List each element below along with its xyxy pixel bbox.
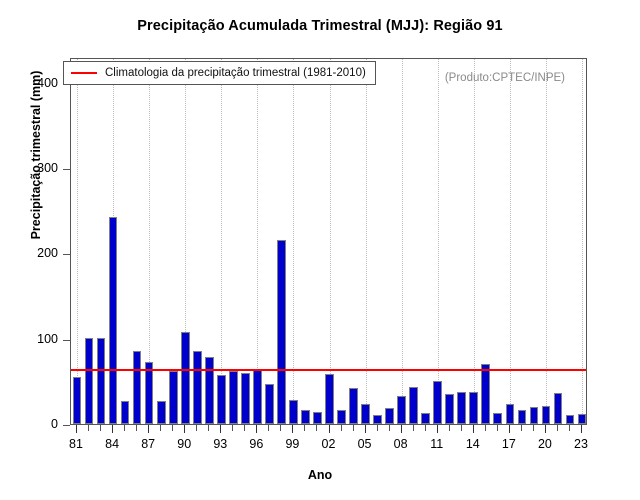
x-tick-mark	[569, 425, 570, 431]
x-tick-mark	[196, 425, 197, 431]
x-tick-mark	[413, 425, 414, 431]
y-tick-label: 200	[0, 246, 58, 260]
x-tick-mark	[112, 425, 113, 433]
legend-entry-label: Climatologia da precipitação trimestral …	[105, 67, 366, 79]
x-tick-mark	[160, 425, 161, 431]
chart-root: Precipitação Acumulada Trimestral (MJJ):…	[0, 0, 640, 500]
bar	[518, 410, 527, 425]
x-tick-mark	[377, 425, 378, 431]
x-tick-mark	[449, 425, 450, 431]
x-tick-mark	[533, 425, 534, 431]
y-tick-mark	[63, 254, 70, 255]
bar	[205, 357, 214, 424]
bar	[109, 217, 118, 424]
y-tick-mark	[63, 425, 70, 426]
x-tick-label: 81	[69, 437, 83, 451]
x-tick-mark	[341, 425, 342, 431]
x-tick-mark	[365, 425, 366, 433]
x-tick-mark	[353, 425, 354, 431]
bar	[566, 415, 575, 424]
x-tick-mark	[545, 425, 546, 433]
x-axis-label: Ano	[0, 468, 640, 482]
x-tick-mark	[509, 425, 510, 433]
x-tick-mark	[329, 425, 330, 433]
bar	[193, 351, 202, 424]
x-tick-mark	[208, 425, 209, 431]
x-tick-mark	[557, 425, 558, 431]
bar	[133, 351, 142, 424]
bar	[469, 392, 478, 424]
x-tick-mark	[244, 425, 245, 431]
bar	[217, 375, 226, 424]
x-tick-label: 02	[322, 437, 336, 451]
x-tick-mark	[136, 425, 137, 431]
bar	[361, 404, 370, 424]
bar	[530, 407, 539, 424]
bar	[97, 338, 106, 424]
chart-title: Precipitação Acumulada Trimestral (MJJ):…	[0, 18, 640, 34]
x-tick-mark	[485, 425, 486, 431]
bar	[121, 401, 130, 424]
y-tick-mark	[63, 169, 70, 170]
y-tick-label: 0	[0, 417, 58, 431]
x-tick-label: 99	[285, 437, 299, 451]
x-tick-mark	[292, 425, 293, 433]
x-tick-mark	[425, 425, 426, 431]
bar	[421, 413, 430, 424]
x-tick-label: 20	[538, 437, 552, 451]
x-tick-mark	[220, 425, 221, 433]
bar	[241, 373, 250, 424]
bar	[253, 369, 262, 424]
bar	[85, 338, 94, 424]
x-tick-mark	[280, 425, 281, 431]
bar	[506, 404, 515, 424]
x-tick-label: 05	[358, 437, 372, 451]
x-tick-mark	[437, 425, 438, 433]
x-tick-label: 14	[466, 437, 480, 451]
x-tick-mark	[148, 425, 149, 433]
x-tick-mark	[268, 425, 269, 431]
bar	[301, 410, 310, 425]
bar	[457, 392, 466, 424]
bar	[554, 393, 563, 424]
x-tick-mark	[124, 425, 125, 431]
bar	[265, 384, 274, 424]
y-tick-mark	[63, 340, 70, 341]
bar	[229, 371, 238, 424]
x-tick-label: 90	[177, 437, 191, 451]
x-tick-mark	[461, 425, 462, 431]
legend-line-swatch-icon	[71, 72, 97, 74]
x-tick-label: 17	[502, 437, 516, 451]
bar	[433, 381, 442, 424]
bar	[337, 410, 346, 424]
bar	[349, 388, 358, 424]
bar	[277, 240, 286, 424]
bar	[542, 406, 551, 424]
bar	[181, 332, 190, 424]
bar	[157, 401, 166, 424]
y-tick-label: 100	[0, 332, 58, 346]
x-tick-label: 11	[430, 437, 443, 451]
x-tick-label: 93	[213, 437, 227, 451]
x-tick-mark	[88, 425, 89, 431]
x-tick-label: 23	[574, 437, 588, 451]
bar	[373, 415, 382, 424]
x-tick-mark	[473, 425, 474, 433]
x-tick-label: 08	[394, 437, 408, 451]
x-tick-mark	[497, 425, 498, 431]
x-tick-mark	[172, 425, 173, 431]
y-tick-label: 400	[0, 76, 58, 90]
x-tick-mark	[521, 425, 522, 431]
x-tick-mark	[304, 425, 305, 431]
bar	[289, 400, 298, 424]
bar	[325, 374, 334, 424]
source-annotation: (Produto:CPTEC/INPE)	[445, 72, 565, 84]
bar	[169, 371, 178, 424]
x-tick-label: 87	[141, 437, 155, 451]
plot-inner	[71, 59, 586, 424]
bar	[493, 413, 502, 424]
x-tick-label: 84	[105, 437, 119, 451]
x-tick-mark	[256, 425, 257, 433]
bar	[409, 387, 418, 424]
x-tick-mark	[389, 425, 390, 431]
plot-area	[70, 58, 587, 425]
bar	[578, 414, 586, 424]
bar	[397, 396, 406, 424]
bar	[385, 408, 394, 424]
climatology-reference-line	[71, 369, 586, 371]
legend: Climatologia da precipitação trimestral …	[63, 61, 376, 85]
x-tick-mark	[76, 425, 77, 433]
bar	[313, 412, 322, 424]
bar	[73, 377, 82, 424]
x-tick-label: 96	[249, 437, 263, 451]
x-tick-mark	[100, 425, 101, 431]
x-tick-mark	[581, 425, 582, 433]
bar	[445, 394, 454, 424]
y-tick-label: 300	[0, 161, 58, 175]
bar	[481, 364, 490, 424]
x-tick-mark	[232, 425, 233, 431]
x-tick-mark	[316, 425, 317, 431]
x-tick-mark	[401, 425, 402, 433]
x-tick-mark	[184, 425, 185, 433]
